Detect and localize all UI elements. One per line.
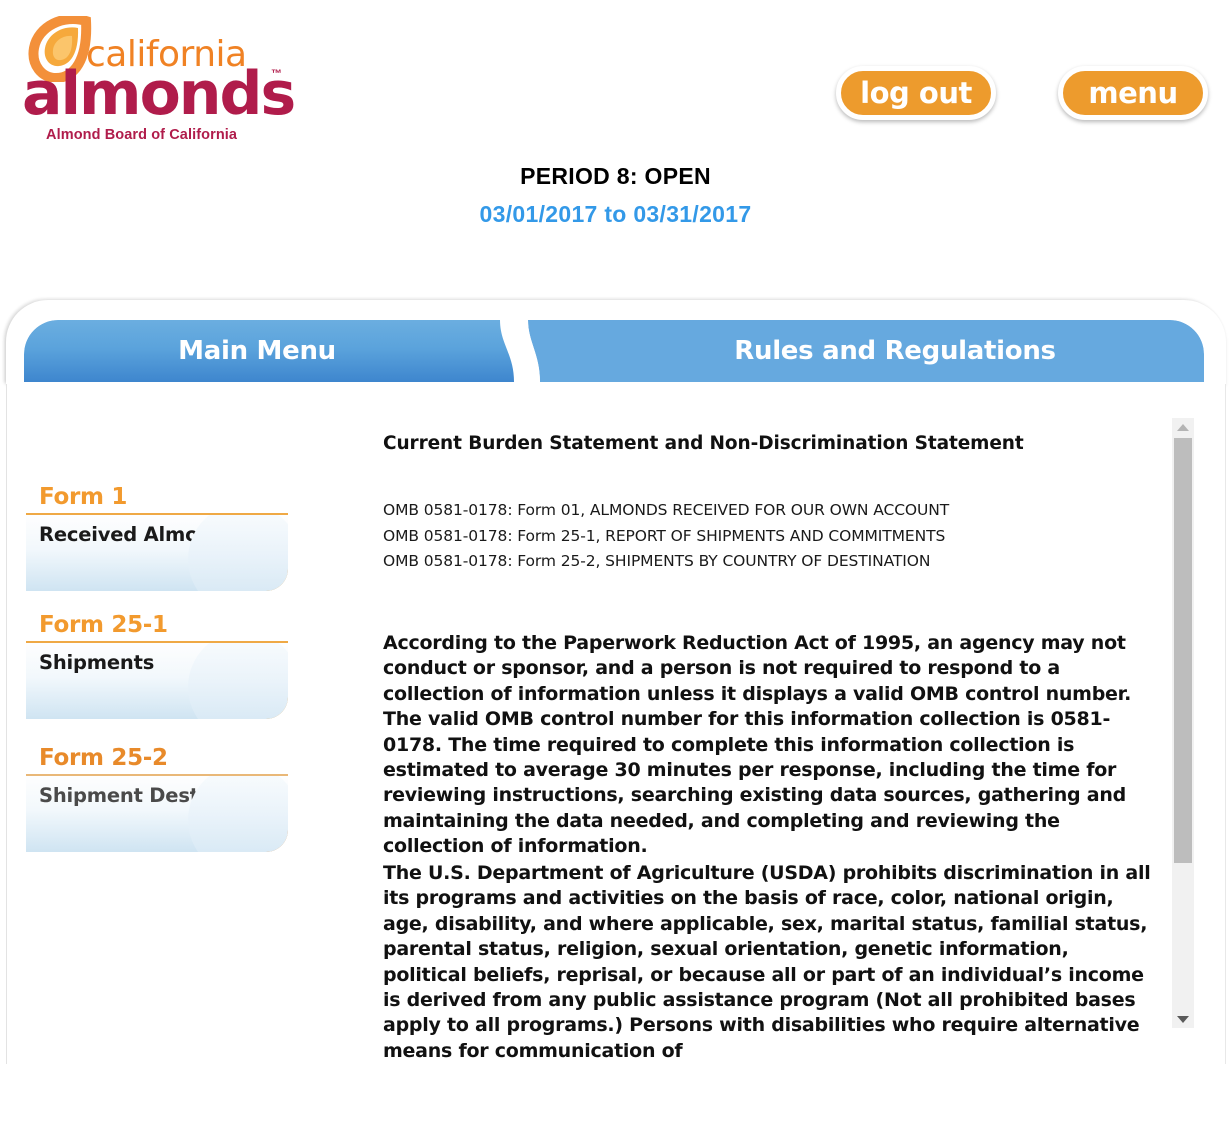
non-discrimination-paragraph: The U.S. Department of Agriculture (USDA… [383,861,1151,1064]
page-root: california almonds ™ Almond Board of Cal… [0,0,1231,1141]
burden-statement-heading: Current Burden Statement and Non-Discrim… [383,433,1024,454]
sidebar-card-form-25-1-body[interactable]: Shipments [26,641,288,719]
triangle-up-icon [1177,424,1189,431]
sidebar-card-form-25-1-label: Shipments [39,651,154,674]
period-status-title: PERIOD 8: OPEN [0,163,1231,190]
omb-list-item: OMB 0581-0178: Form 25-1, REPORT OF SHIP… [383,524,949,550]
sidebar-card-form-25-2[interactable]: Form 25-2 Shipment Destination [26,745,288,852]
tab-main-menu[interactable]: Main Menu [24,320,534,382]
sidebar-card-form-1-title: Form 1 [26,484,288,510]
log-out-button[interactable]: log out [836,66,996,120]
content-scrollbar[interactable] [1172,418,1194,1028]
sidebar-card-form-25-2-title: Form 25-2 [26,745,288,771]
scrollbar-thumb[interactable] [1174,438,1192,863]
period-date-range: 03/01/2017 to 03/31/2017 [0,201,1231,228]
tab-rules-and-regulations[interactable]: Rules and Regulations [526,320,1204,382]
logo-word-almonds: almonds [22,64,294,124]
omb-form-list: OMB 0581-0178: Form 01, ALMONDS RECEIVED… [383,498,949,575]
scroll-up-button[interactable] [1172,418,1194,436]
sidebar-card-form-25-1-title: Form 25-1 [26,612,288,638]
tab-bar: Main Menu Rules and Regulations [24,320,1204,382]
paperwork-reduction-act-paragraph: According to the Paperwork Reduction Act… [383,631,1151,860]
omb-list-item: OMB 0581-0178: Form 25-2, SHIPMENTS BY C… [383,549,949,575]
triangle-down-icon [1177,1016,1189,1023]
log-out-button-label: log out [860,76,972,110]
sidebar-card-form-1-body[interactable]: Received Almonds [26,513,288,591]
logo-trademark: ™ [271,68,282,80]
scroll-down-button[interactable] [1172,1010,1194,1028]
tab-rules-and-regulations-label: Rules and Regulations [734,336,1055,366]
tab-main-menu-label: Main Menu [178,336,336,366]
card-corner-curl-icon [222,533,288,591]
menu-button[interactable]: menu [1058,66,1208,120]
card-corner-curl-icon [222,794,288,852]
logo-tagline: Almond Board of California [46,127,237,143]
sidebar-card-form-25-1[interactable]: Form 25-1 Shipments [26,612,288,719]
sidebar-card-form-25-2-body[interactable]: Shipment Destination [26,774,288,852]
card-corner-curl-icon [222,661,288,719]
sidebar-card-form-1[interactable]: Form 1 Received Almonds [26,484,288,591]
omb-list-item: OMB 0581-0178: Form 01, ALMONDS RECEIVED… [383,498,949,524]
menu-button-label: menu [1088,76,1177,110]
almond-board-logo: california almonds ™ Almond Board of Cal… [18,14,288,136]
